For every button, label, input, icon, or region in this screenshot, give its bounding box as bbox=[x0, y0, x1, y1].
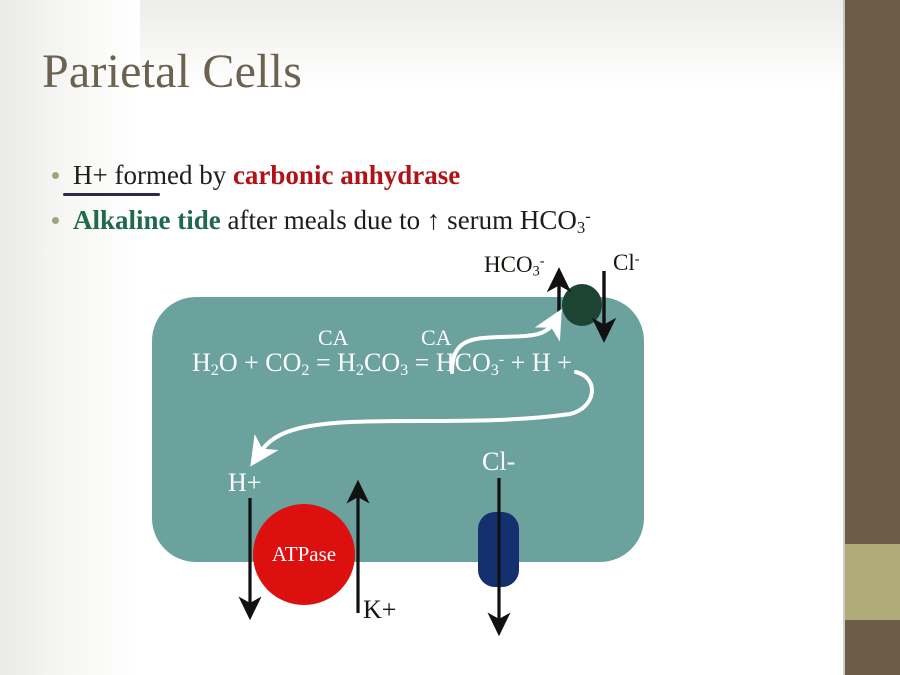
bullet-2-superscript: - bbox=[585, 206, 591, 225]
label-hco3-base: HCO bbox=[484, 252, 533, 277]
eq-p4: CO bbox=[364, 348, 400, 377]
eq-p2: O + CO bbox=[219, 348, 302, 377]
h-k-atpase-icon: ATPase bbox=[253, 504, 355, 605]
bullet-2-emphasis: Alkaline tide bbox=[73, 205, 221, 235]
hco3-cl-exchanger-icon bbox=[562, 284, 602, 326]
eq-s1: 2 bbox=[211, 362, 219, 379]
bullet-2-suffix: after meals due to ↑ serum HCO bbox=[221, 205, 577, 235]
carbonic-anhydrase-equation: H2O + CO2 = H2CO3 = HCO3- + H + bbox=[192, 348, 572, 380]
bullet-item-1: H+ formed by carbonic anhydrase bbox=[52, 160, 460, 191]
eq-s5: 3 bbox=[491, 362, 499, 379]
bullet-dot-icon bbox=[52, 217, 59, 224]
eq-s4: 3 bbox=[400, 362, 408, 379]
bullet-1-prefix: H+ formed by bbox=[73, 160, 233, 190]
eq-p3: = H bbox=[309, 348, 355, 377]
eq-s3: 2 bbox=[356, 362, 364, 379]
chloride-channel-icon bbox=[478, 512, 519, 587]
eq-p6: + H + bbox=[504, 348, 572, 377]
label-hco3-sub: 3 bbox=[533, 264, 540, 280]
bullet-dot-icon bbox=[52, 172, 59, 179]
bullet-item-2: Alkaline tide after meals due to ↑ serum… bbox=[52, 205, 591, 238]
parietal-cell-body bbox=[152, 297, 644, 562]
label-cl-base: Cl bbox=[613, 250, 635, 275]
sidebar-khaki-bar bbox=[845, 544, 900, 620]
page-title: Parietal Cells bbox=[42, 44, 302, 99]
label-h-intracellular: H+ bbox=[228, 468, 261, 498]
label-cl-extracellular: Cl- bbox=[613, 250, 639, 276]
eq-p5: = HCO bbox=[408, 348, 491, 377]
label-hco3-extracellular: HCO3- bbox=[484, 252, 544, 281]
atpase-label: ATPase bbox=[253, 504, 355, 605]
eq-p1: H bbox=[192, 348, 211, 377]
bullet-1-emphasis: carbonic anhydrase bbox=[233, 160, 460, 190]
slide-canvas: Parietal Cells H+ formed by carbonic anh… bbox=[0, 0, 900, 675]
background-gradient-left bbox=[0, 0, 140, 675]
label-cl-intracellular: Cl- bbox=[482, 447, 515, 477]
label-cl-sup: - bbox=[635, 252, 640, 268]
handwritten-underline bbox=[63, 193, 160, 196]
label-k-efflux: K+ bbox=[363, 595, 396, 625]
label-hco3-sup: - bbox=[540, 254, 545, 270]
